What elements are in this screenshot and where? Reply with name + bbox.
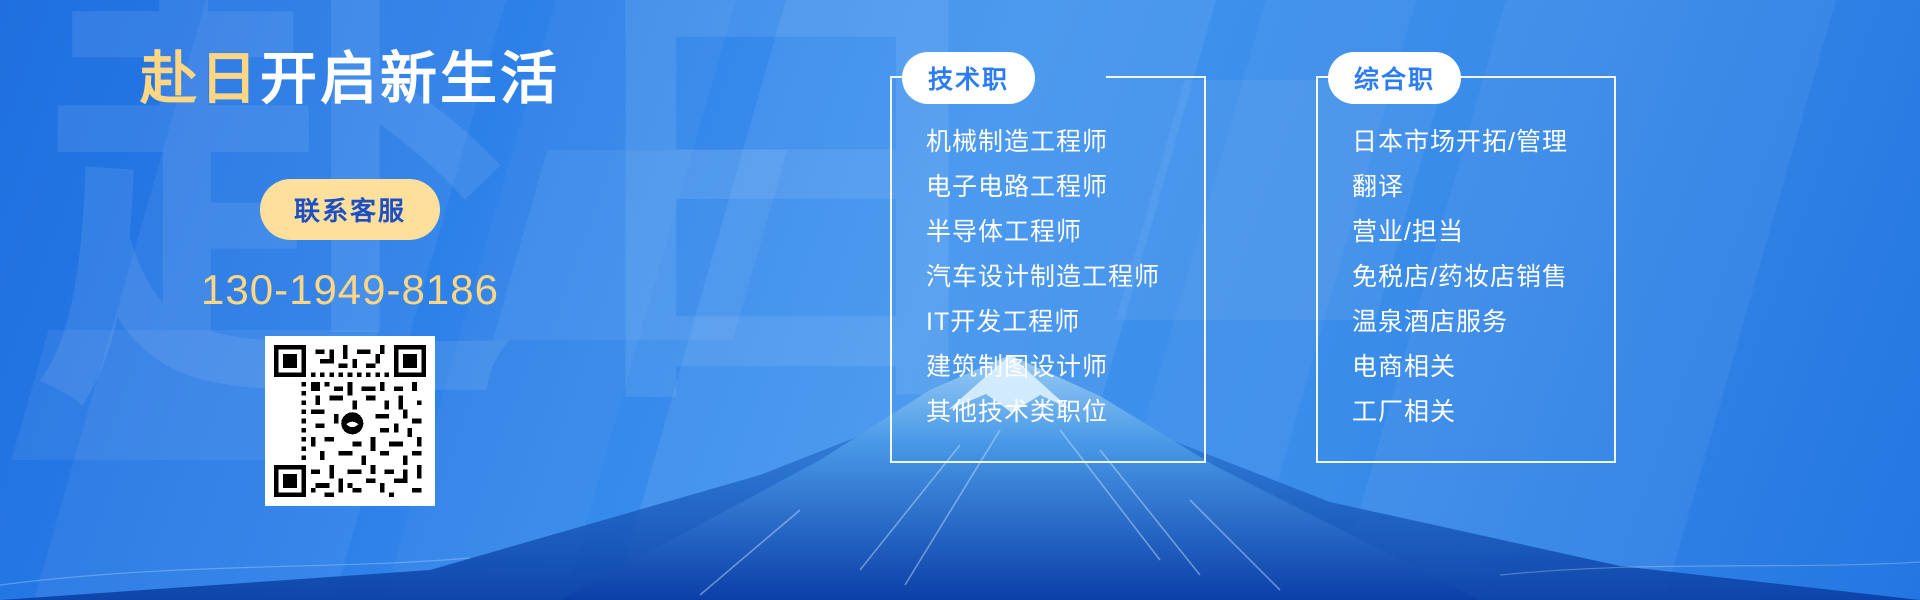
list-item[interactable]: 半导体工程师 [926, 210, 1170, 255]
list-item[interactable]: 温泉酒店服务 [1352, 300, 1580, 345]
job-column-technical: 技术职 机械制造工程师 电子电路工程师 半导体工程师 汽车设计制造工程师 IT开… [890, 78, 1206, 463]
list-item[interactable]: 电商相关 [1352, 345, 1580, 390]
job-category-pill-technical[interactable]: 技术职 [902, 52, 1035, 104]
list-item[interactable]: 免税店/药妆店销售 [1352, 255, 1580, 300]
contact-support-button[interactable]: 联系客服 [260, 179, 440, 240]
job-column-general: 综合职 日本市场开拓/管理 翻译 营业/担当 免税店/药妆店销售 温泉酒店服务 … [1316, 78, 1616, 463]
page-title: 赴日开启新生活 [140, 48, 560, 111]
list-item[interactable]: 翻译 [1352, 165, 1580, 210]
qr-code-image [274, 345, 426, 497]
list-item[interactable]: 其他技术类职位 [926, 390, 1170, 435]
job-categories: 技术职 机械制造工程师 电子电路工程师 半导体工程师 汽车设计制造工程师 IT开… [890, 78, 1616, 463]
list-item[interactable]: 电子电路工程师 [926, 165, 1170, 210]
list-item[interactable]: 机械制造工程师 [926, 120, 1170, 165]
job-category-pill-general[interactable]: 综合职 [1328, 52, 1461, 104]
list-item[interactable]: 工厂相关 [1352, 390, 1580, 435]
left-contact-panel: 赴日开启新生活 联系客服 130-1949-8186 [0, 0, 700, 600]
job-list-general: 日本市场开拓/管理 翻译 营业/担当 免税店/药妆店销售 温泉酒店服务 电商相关… [1316, 78, 1616, 463]
promo-banner: 赴日 [0, 0, 1920, 600]
phone-number[interactable]: 130-1949-8186 [201, 266, 499, 314]
list-item[interactable]: 营业/担当 [1352, 210, 1580, 255]
headline-accent-text: 赴日 [140, 47, 260, 111]
list-item[interactable]: 建筑制图设计师 [926, 345, 1170, 390]
headline-plain-text: 开启新生活 [260, 47, 560, 111]
qr-code[interactable] [265, 336, 435, 506]
list-item[interactable]: 日本市场开拓/管理 [1352, 120, 1580, 165]
list-item[interactable]: 汽车设计制造工程师 [926, 255, 1170, 300]
list-item[interactable]: IT开发工程师 [926, 300, 1170, 345]
job-list-technical: 机械制造工程师 电子电路工程师 半导体工程师 汽车设计制造工程师 IT开发工程师… [890, 78, 1206, 463]
